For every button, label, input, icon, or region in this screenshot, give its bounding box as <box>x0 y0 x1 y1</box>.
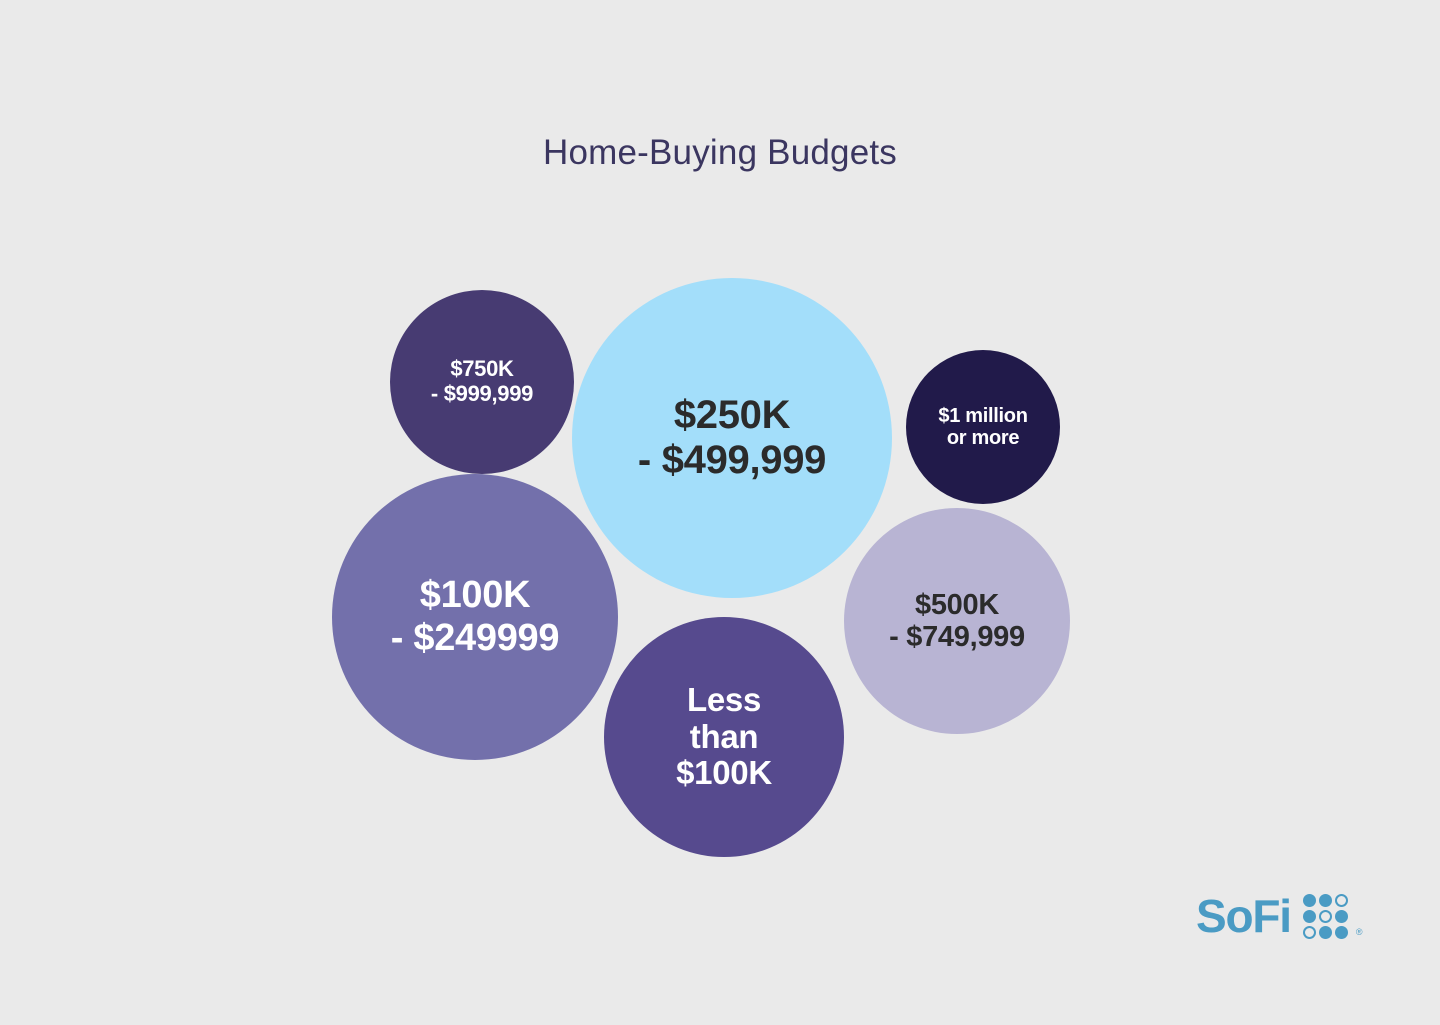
bubble-500k-749999: $500K - $749,999 <box>844 508 1070 734</box>
bubble-750k-999999: $750K - $999,999 <box>390 290 574 474</box>
sofi-dot-9-filled <box>1335 926 1348 939</box>
bubble-250k-499999: $250K - $499,999 <box>572 278 892 598</box>
sofi-dot-4-filled <box>1303 910 1316 923</box>
sofi-dot-7-ring <box>1303 926 1316 939</box>
sofi-logo: SoFi ® <box>1196 893 1363 939</box>
bubble-100k-249999: $100K - $249999 <box>332 474 618 760</box>
bubble-chart: $250K - $499,999 $100K - $249999 Less th… <box>0 0 1440 1025</box>
bubble-label: Less than $100K <box>676 682 772 793</box>
sofi-dot-5-ring <box>1319 910 1332 923</box>
infographic-canvas: Home-Buying Budgets $250K - $499,999 $10… <box>0 0 1440 1025</box>
bubble-label: $250K - $499,999 <box>638 393 826 483</box>
bubble-less-than-100k: Less than $100K <box>604 617 844 857</box>
sofi-dot-6-filled <box>1335 910 1348 923</box>
bubble-label: $750K - $999,999 <box>431 357 533 406</box>
sofi-wordmark: SoFi <box>1196 893 1291 939</box>
bubble-label: $500K - $749,999 <box>889 589 1025 654</box>
sofi-dot-3-ring <box>1335 894 1348 907</box>
sofi-dot-1-filled <box>1303 894 1316 907</box>
sofi-dot-2-filled <box>1319 894 1332 907</box>
bubble-1-million-or-more: $1 million or more <box>906 350 1060 504</box>
sofi-dot-grid-icon <box>1303 894 1348 939</box>
sofi-dot-8-filled <box>1319 926 1332 939</box>
bubble-label: $1 million or more <box>938 405 1027 450</box>
registered-trademark-mark: ® <box>1356 927 1363 937</box>
bubble-label: $100K - $249999 <box>391 574 559 659</box>
